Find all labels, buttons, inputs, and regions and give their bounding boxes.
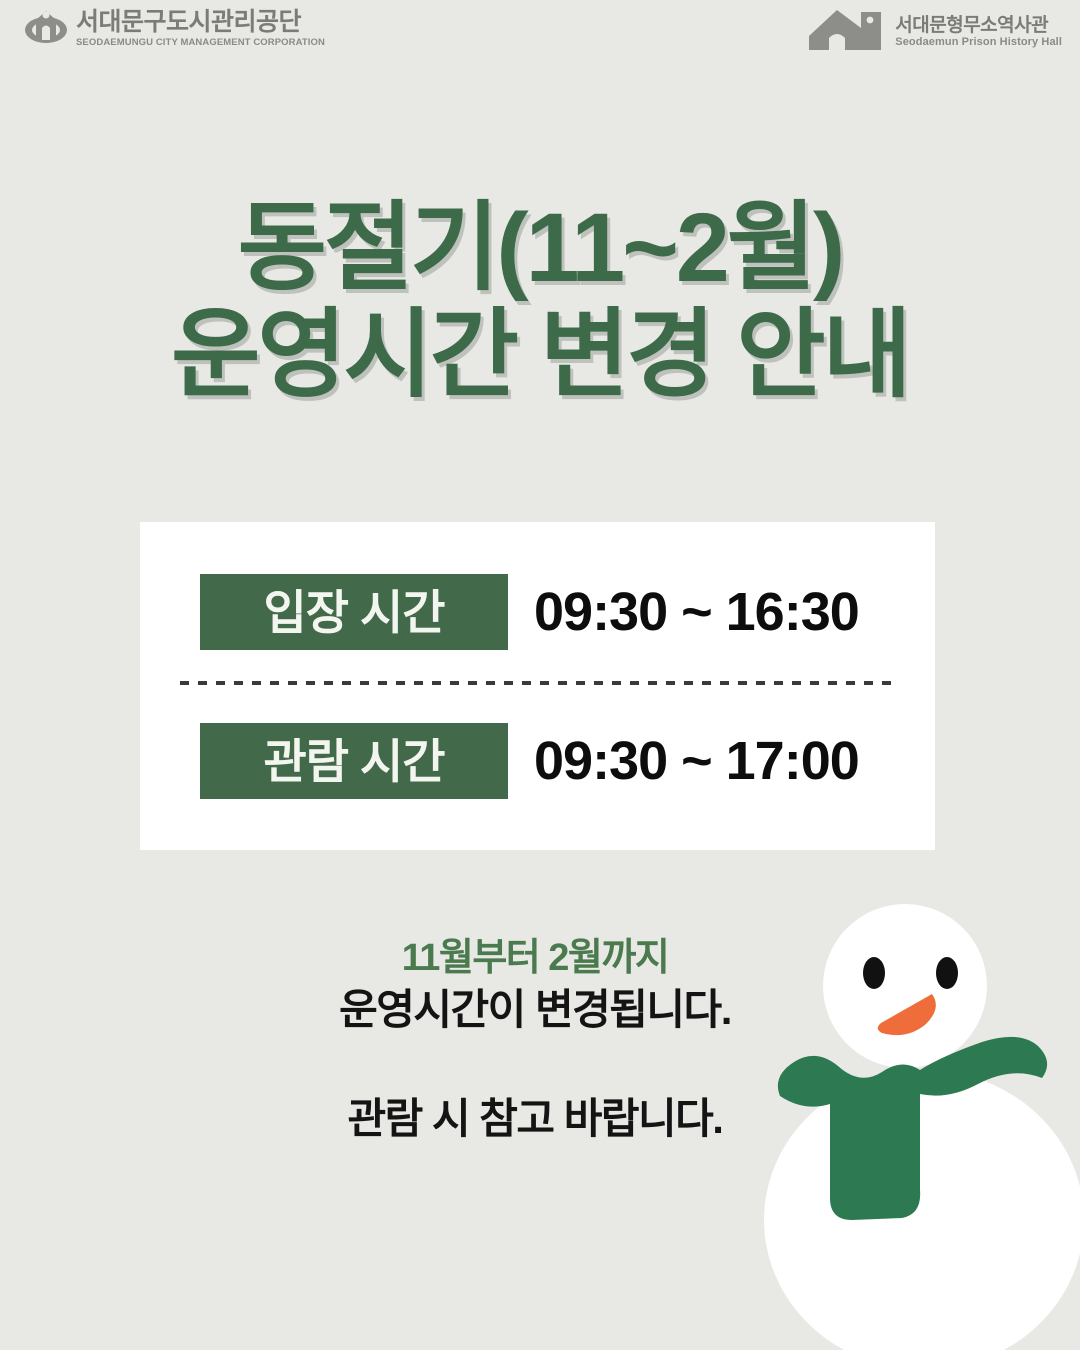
right-logo-text: 서대문형무소역사관 Seodaemun Prison History Hall	[895, 16, 1062, 48]
logo-seodaemungu-city-management: 서대문구도시관리공단 SEODAEMUNGU CITY MANAGEMENT C…	[24, 6, 325, 51]
snowman-head	[823, 904, 987, 1068]
viewing-time-label: 관람 시간	[263, 738, 444, 785]
row-divider	[180, 681, 898, 685]
operating-hours-card: 입장 시간 09:30 ~ 16:30 관람 시간 09:30 ~ 17:00	[140, 522, 935, 850]
title-line-1: 동절기(11~2월)	[0, 196, 1080, 301]
page-title: 동절기(11~2월) 운영시간 변경 안내	[0, 196, 1080, 409]
left-logo-korean: 서대문구도시관리공단	[76, 10, 325, 35]
logo-seodaemun-prison-history-hall: 서대문형무소역사관 Seodaemun Prison History Hall	[807, 6, 1062, 57]
snowman-left-eye	[863, 957, 885, 989]
snowman-illustration	[742, 890, 1080, 1350]
entry-time-label-chip: 입장 시간	[200, 574, 508, 650]
left-logo-english: SEODAEMUNGU CITY MANAGEMENT CORPORATION	[76, 38, 325, 48]
snowman-right-eye	[936, 957, 958, 989]
viewing-time-label-chip: 관람 시간	[200, 723, 508, 799]
prison-house-icon	[807, 6, 885, 57]
right-logo-english: Seodaemun Prison History Hall	[895, 37, 1062, 48]
left-logo-text: 서대문구도시관리공단 SEODAEMUNGU CITY MANAGEMENT C…	[76, 10, 325, 48]
snowman-body	[764, 1070, 1080, 1350]
building-mark-icon	[24, 6, 68, 51]
table-row-viewing-time: 관람 시간 09:30 ~ 17:00	[140, 722, 935, 800]
right-logo-korean: 서대문형무소역사관	[895, 16, 1062, 35]
header-bar: 서대문구도시관리공단 SEODAEMUNGU CITY MANAGEMENT C…	[0, 0, 1080, 62]
table-row-entry-time: 입장 시간 09:30 ~ 16:30	[140, 573, 935, 651]
entry-time-label: 입장 시간	[263, 589, 444, 636]
entry-time-value: 09:30 ~ 16:30	[534, 585, 859, 639]
title-line-2: 운영시간 변경 안내	[0, 301, 1080, 410]
viewing-time-value: 09:30 ~ 17:00	[534, 734, 859, 788]
